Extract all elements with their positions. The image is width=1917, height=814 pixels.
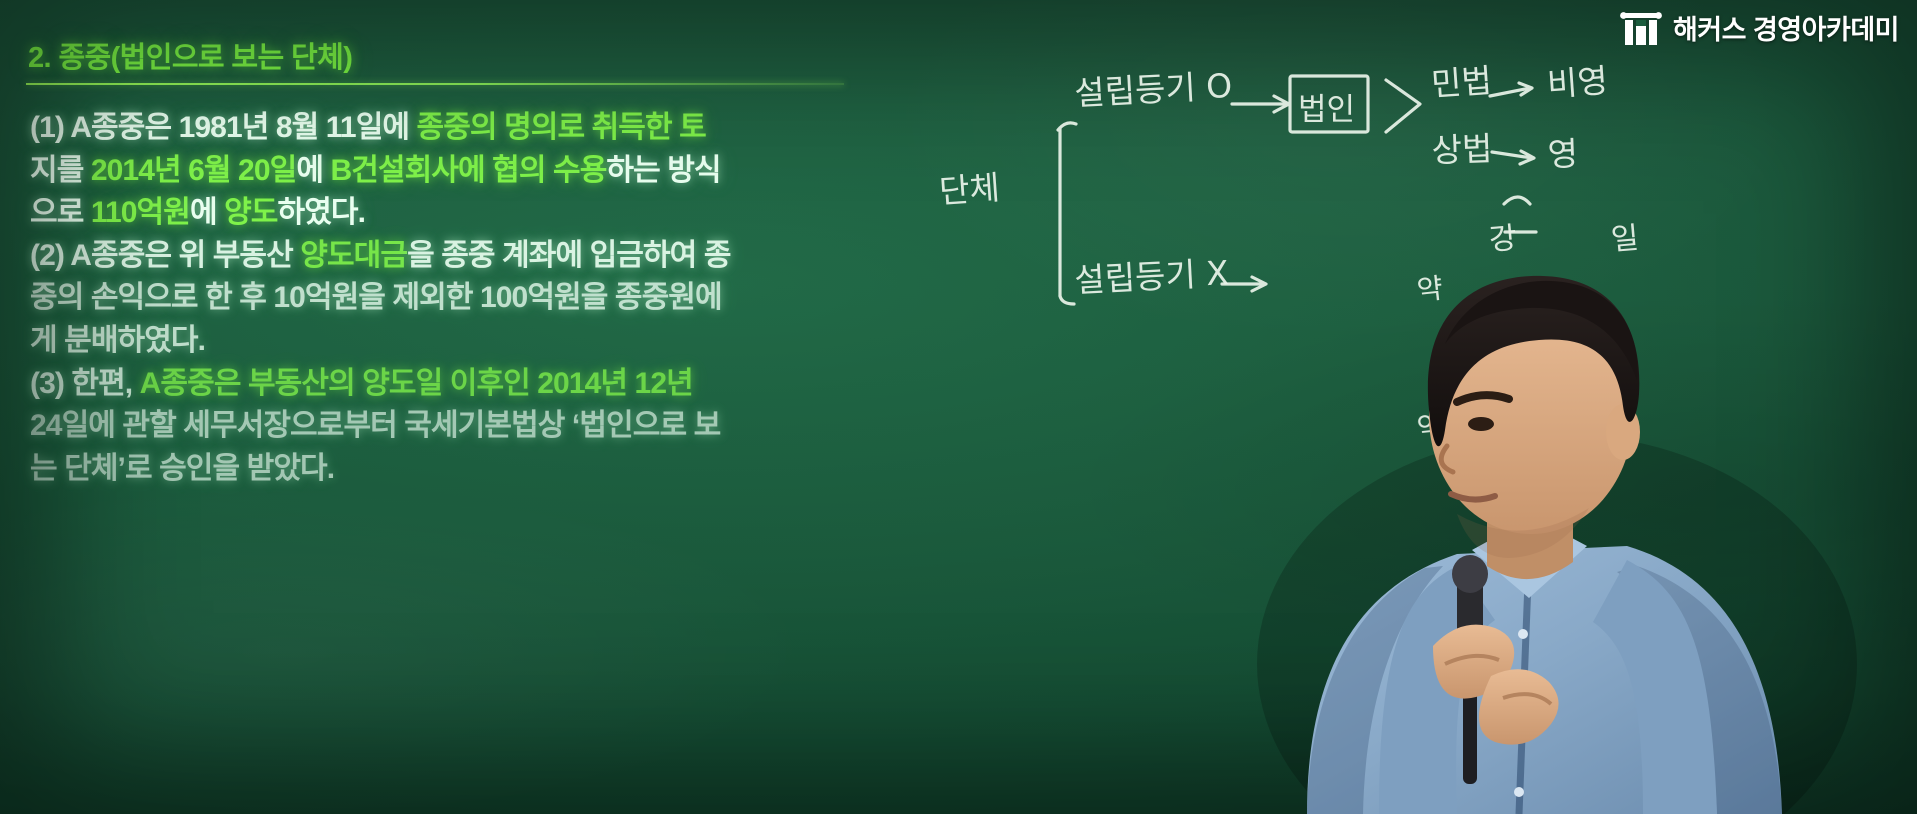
slide-line: 는 단체’로 승인을 받았다. [30,448,882,491]
text-run: 에 [190,196,224,229]
slide-line: 지를 2014년 6월 20일에 B건설회사에 협의 수용하는 방식 [30,150,882,193]
text-run: 24일에 관할 세무서장으로부터 국세기본법상 ‘법인으로 보 [30,409,720,442]
lecturer-figure [1157,194,1917,814]
text-run: 게 분배하였다. [30,324,205,357]
text-run: 양도대금 [300,239,407,272]
text-run: 하는 방식 [606,154,720,187]
text-run: 종중의 명의로 취득한 토 [417,111,706,144]
text-run: A종중은 부동산의 양도일 이후인 2014년 12년 [140,367,693,400]
page-title: 2. 종중(법인으로 보는 단체) [22,34,882,76]
slide-line: (1) A종중은 1981년 8월 11일에 종중의 명의로 취득한 토 [30,107,882,150]
text-run: 양도 [224,196,277,229]
slide-line: 중의 손익으로 한 후 10억원을 제외한 100억원을 종중원에 [30,277,882,320]
logo-text: 해커스 경영아카데미 [1673,8,1899,47]
text-run: 2014년 6월 20일 [91,154,296,187]
slide-line: (3) 한편, A종중은 부동산의 양도일 이후인 2014년 12년 [30,363,882,406]
chalk-label-corporation: 법인 [1298,92,1355,128]
projected-slide: 2. 종중(법인으로 보는 단체) (1) A종중은 1981년 8월 11일에… [22,34,882,490]
text-run: (1) A종중은 1981년 8월 11일에 [30,111,417,144]
text-run: 110억원 [91,196,190,229]
chalk-label-civil-law: 민법 [1430,61,1493,104]
brand-logo: 해커스 경영아카데미 [1619,8,1899,47]
text-run: 는 단체’로 승인을 받았다. [30,452,334,485]
text-run: (3) 한편, [30,367,140,400]
slide-line: 24일에 관할 세무서장으로부터 국세기본법상 ‘법인으로 보 [30,405,882,448]
text-run: (2) A종중은 위 부동산 [30,239,300,272]
title-underline [26,83,844,85]
slide-body: (1) A종중은 1981년 8월 11일에 종중의 명의로 취득한 토 지를 … [22,107,882,490]
text-run: 중의 손익으로 한 후 10억원을 제외한 100억원을 종중원에 [30,281,722,314]
lecture-board-screen: 2. 종중(법인으로 보는 단체) (1) A종중은 1981년 8월 11일에… [0,0,1917,814]
chalk-label-commercial-law: 상법 [1431,129,1493,170]
slide-line: 게 분배하였다. [30,320,882,363]
text-run: 하였다. [278,196,366,229]
chalk-label-registration-yes: 설립등기 O [1073,66,1233,113]
hackers-pillar-h-icon [1619,11,1663,45]
text-run: 으로 [30,196,91,229]
chalk-label-nonprofit: 비영 [1546,61,1609,104]
text-run: 에 [296,154,330,187]
text-run: 을 종중 계좌에 입금하여 종 [407,239,730,272]
slide-line: 으로 110억원에 양도하였다. [30,192,882,235]
text-run: 지를 [30,154,91,187]
chalk-label-group: 단체 [938,168,1001,211]
chalk-label-profit: 영 [1547,134,1579,174]
text-run: B건설회사에 협의 수용 [330,154,606,187]
slide-line: (2) A종중은 위 부동산 양도대금을 종중 계좌에 입금하여 종 [30,235,882,278]
